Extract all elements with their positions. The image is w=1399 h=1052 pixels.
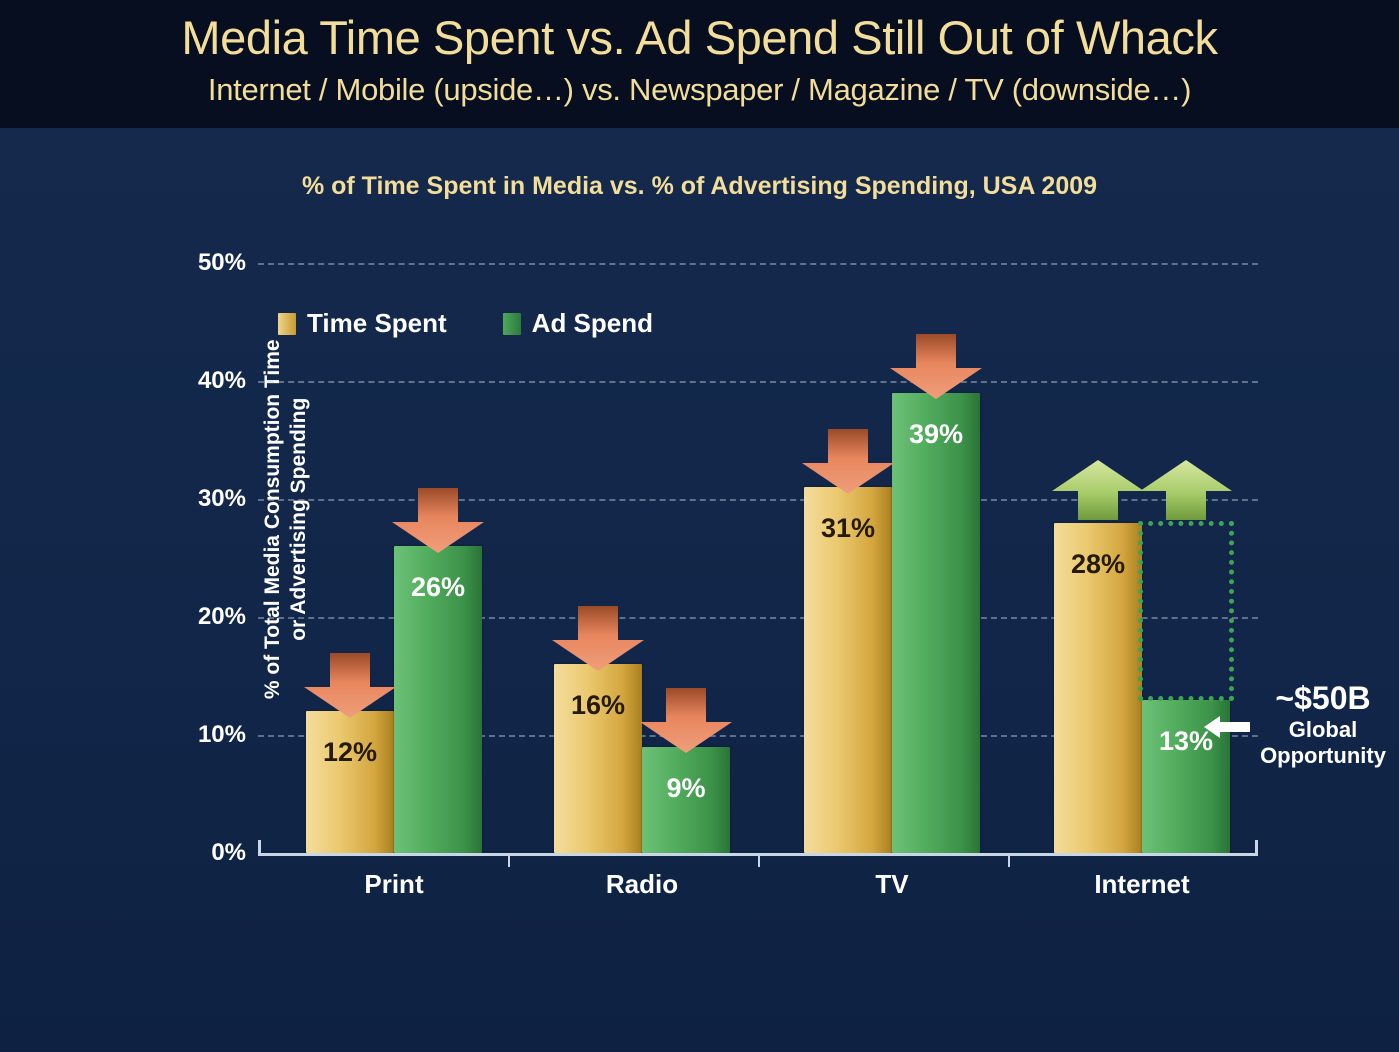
x-axis-end-right <box>1255 840 1258 856</box>
chart-plot-area: % of Total Media Consumption Time or Adv… <box>258 263 1258 853</box>
y-tick-label-30: 30% <box>126 485 246 513</box>
y-tick-label-10: 10% <box>126 721 246 749</box>
up-arrow-icon-internet-time-spent <box>1050 459 1146 521</box>
bar-value-print-time-spent: 12% <box>306 737 394 768</box>
y-tick-label-20: 20% <box>126 603 246 631</box>
legend-item-time-spent[interactable]: Time Spent <box>278 308 447 339</box>
x-axis-label-tv: TV <box>792 869 992 900</box>
slide-header: Media Time Spent vs. Ad Spend Still Out … <box>0 0 1399 128</box>
y-tick-label-40: 40% <box>126 367 246 395</box>
callout-line-2: Opportunity <box>1243 743 1399 769</box>
legend-label-time-spent: Time Spent <box>307 308 447 339</box>
down-arrow-icon-radio-time-spent <box>550 606 646 672</box>
opportunity-gap-box <box>1138 521 1234 701</box>
chart-title: % of Time Spent in Media vs. % of Advert… <box>0 172 1399 201</box>
x-axis-label-radio: Radio <box>542 869 742 900</box>
bar-value-internet-time-spent: 28% <box>1054 549 1142 580</box>
y-axis-label-line1: % of Total Media Consumption Time <box>261 339 284 699</box>
legend-label-ad-spend: Ad Spend <box>532 308 653 339</box>
bar-value-tv-time-spent: 31% <box>804 513 892 544</box>
down-arrow-icon-radio-ad-spend <box>638 688 734 754</box>
down-arrow-icon-print-time-spent <box>302 653 398 719</box>
x-axis-end-left <box>258 840 261 856</box>
bar-tv-time-spent[interactable]: 31% <box>804 487 892 853</box>
down-arrow-icon-tv-ad-spend <box>888 334 984 400</box>
callout-line-1: Global <box>1243 717 1399 743</box>
y-tick-label-50: 50% <box>126 249 246 277</box>
x-axis-tick-2 <box>758 853 760 867</box>
legend-item-ad-spend[interactable]: Ad Spend <box>503 308 653 339</box>
y-axis-label-line2: or Advertising Spending <box>287 398 310 641</box>
page-title: Media Time Spent vs. Ad Spend Still Out … <box>0 10 1399 65</box>
gridline-50 <box>258 263 1258 265</box>
bar-print-time-spent[interactable]: 12% <box>306 711 394 853</box>
bar-radio-ad-spend[interactable]: 9% <box>642 747 730 853</box>
x-axis-label-internet: Internet <box>1042 869 1242 900</box>
y-tick-label-0: 0% <box>126 839 246 867</box>
x-axis-tick-1 <box>508 853 510 867</box>
page-subtitle: Internet / Mobile (upside…) vs. Newspape… <box>0 72 1399 108</box>
x-axis-label-print: Print <box>294 869 494 900</box>
down-arrow-icon-tv-time-spent <box>800 429 896 495</box>
up-arrow-icon-internet-ad-spend <box>1138 459 1234 521</box>
legend-swatch-icon-time-spent <box>278 313 296 335</box>
bar-value-radio-time-spent: 16% <box>554 690 642 721</box>
gridline-40 <box>258 381 1258 383</box>
bar-internet-time-spent[interactable]: 28% <box>1054 523 1142 853</box>
bar-value-print-ad-spend: 26% <box>394 572 482 603</box>
bar-value-radio-ad-spend: 9% <box>642 773 730 804</box>
bar-value-tv-ad-spend: 39% <box>892 419 980 450</box>
bar-print-ad-spend[interactable]: 26% <box>394 546 482 853</box>
chart-legend: Time Spent Ad Spend <box>278 308 653 339</box>
callout-amount: ~$50B <box>1243 680 1399 717</box>
slide-body: % of Time Spent in Media vs. % of Advert… <box>0 128 1399 1052</box>
down-arrow-icon-print-ad-spend <box>390 488 486 554</box>
legend-swatch-icon-ad-spend <box>503 313 521 335</box>
x-axis-tick-3 <box>1008 853 1010 867</box>
bar-tv-ad-spend[interactable]: 39% <box>892 393 980 853</box>
opportunity-callout: ~$50B Global Opportunity <box>1243 680 1399 768</box>
bar-radio-time-spent[interactable]: 16% <box>554 664 642 853</box>
